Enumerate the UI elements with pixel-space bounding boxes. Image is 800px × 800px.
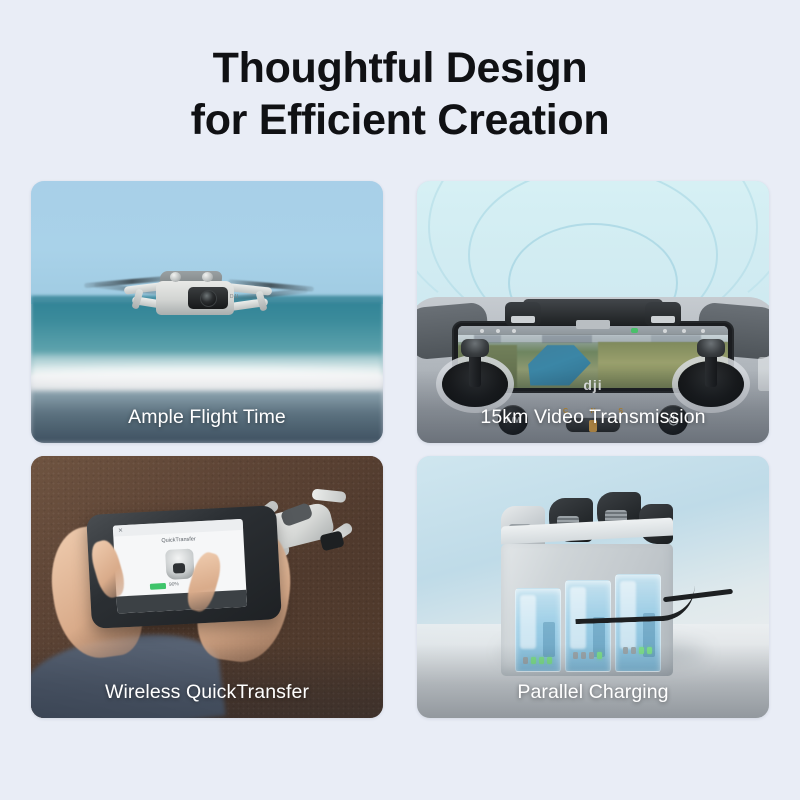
- feature-card-video-transmission[interactable]: dji A/M C N S: [417, 181, 769, 443]
- page-title-line-2: for Efficient Creation: [0, 94, 800, 146]
- drone-sensor-right: [202, 272, 213, 282]
- page-title: Thoughtful Design for Efficient Creation: [0, 42, 800, 147]
- power-cable: [574, 586, 695, 624]
- drone-camera-lens: [200, 290, 217, 307]
- quicktransfer-app-screen[interactable]: ✕ QuickTransfer 90% Connect: [113, 519, 247, 614]
- marketing-page: Thoughtful Design for Efficient Creation: [0, 0, 800, 800]
- status-dot-6: [701, 329, 705, 333]
- close-icon[interactable]: ✕: [118, 528, 124, 534]
- drone-brand-mark: DJI: [230, 294, 239, 300]
- feature-card-ample-flight-time[interactable]: DJI Ample Flight Time: [31, 181, 383, 443]
- feature-card-wireless-quicktransfer[interactable]: ✕ QuickTransfer 90% Connect Wireless Qui…: [31, 456, 383, 718]
- card-label-parallel-charging: Parallel Charging: [417, 681, 769, 704]
- status-dot-3: [512, 329, 516, 333]
- phone-clamp-left: [505, 302, 541, 326]
- page-title-line-1: Thoughtful Design: [0, 42, 800, 94]
- phone-clamp: [523, 299, 663, 325]
- drone-icon: DJI: [80, 263, 306, 335]
- status-dot-2: [496, 329, 500, 333]
- app-title: QuickTransfer: [114, 534, 244, 547]
- joystick-left[interactable]: [461, 339, 489, 357]
- feature-card-grid: DJI Ample Flight Time: [31, 181, 769, 718]
- clamp-pad-right: [651, 316, 675, 323]
- feature-card-parallel-charging[interactable]: Parallel Charging: [417, 456, 769, 718]
- drone-sensor-left: [170, 272, 181, 282]
- phone-clamp-right: [645, 302, 681, 326]
- folded-arm-2: [312, 489, 347, 503]
- phone-clamp-center-pad: [576, 320, 610, 329]
- status-dot-5: [682, 329, 686, 333]
- status-dot-4: [663, 329, 667, 333]
- clamp-pad-left: [511, 316, 535, 323]
- joystick-right[interactable]: [697, 339, 725, 357]
- app-battery-icon: [150, 583, 166, 590]
- card-label-video-transmission: 15km Video Transmission: [417, 406, 769, 429]
- card-label-ample-flight-time: Ample Flight Time: [31, 406, 383, 429]
- app-battery-label: 90%: [169, 581, 179, 588]
- card-label-wireless-quicktransfer: Wireless QuickTransfer: [31, 681, 383, 704]
- battery-highlight-1: [520, 595, 536, 649]
- status-dot-1: [480, 329, 484, 333]
- battery-indicator: [631, 328, 638, 333]
- drone-thumbnail-icon: [165, 549, 195, 580]
- app-primary-button[interactable]: Connect: [116, 590, 247, 614]
